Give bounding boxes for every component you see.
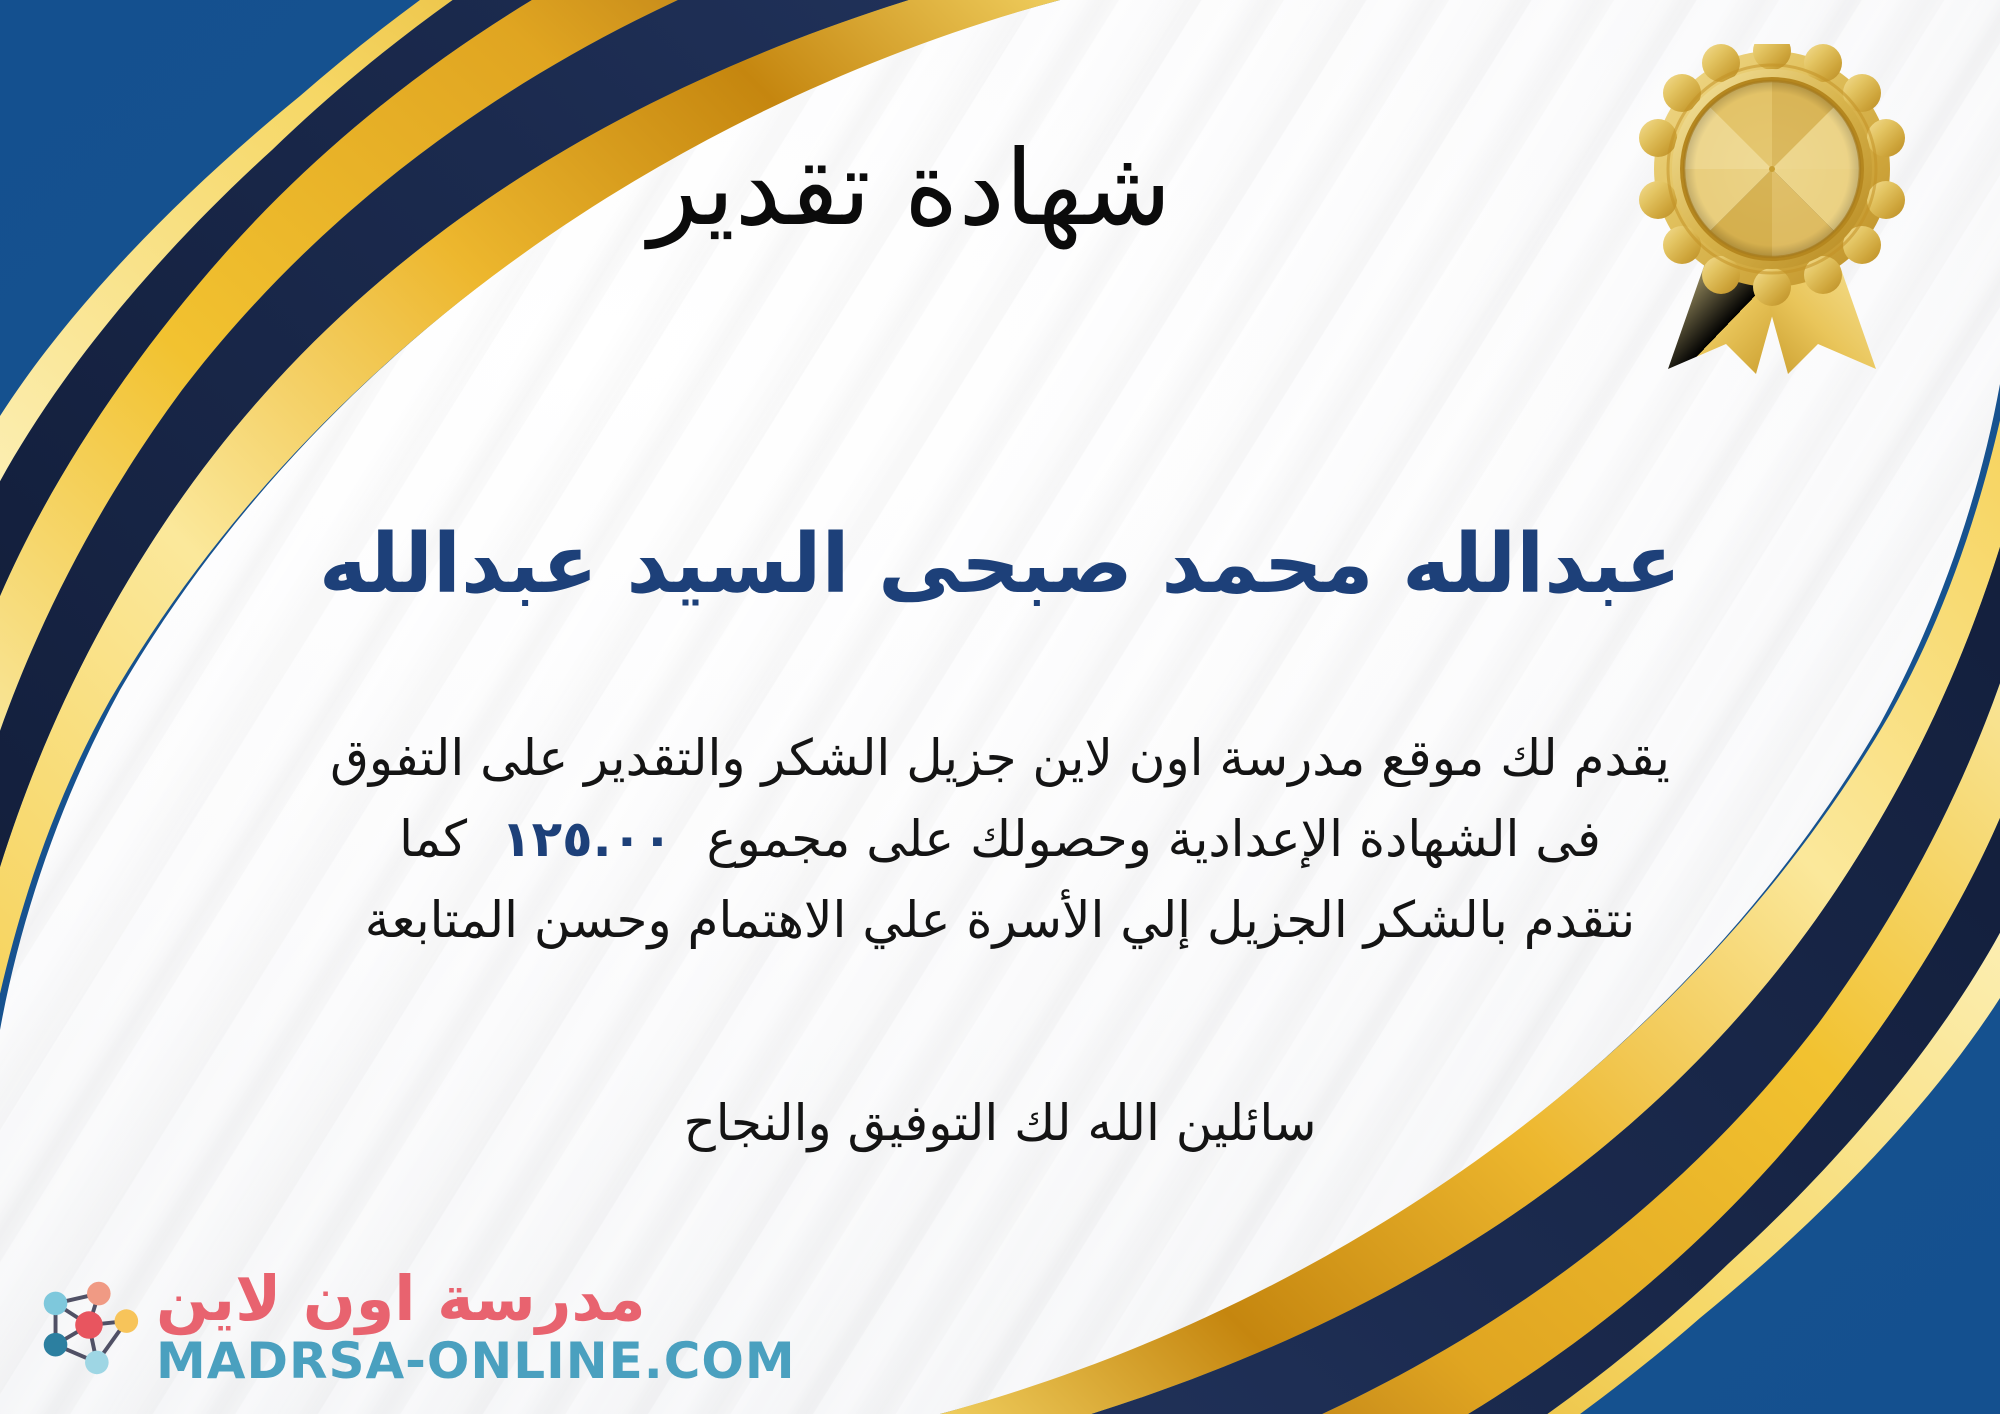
brand-wordmark: مدرسة اون لاين MADRSA-ONLINE.COM — [156, 1268, 796, 1386]
certificate-title: شهادة تقدير — [0, 132, 2000, 244]
total-score-value: ١٢٥.٠٠ — [467, 810, 707, 868]
body-line-2: فى الشهادة الإعدادية وحصولك على مجموع١٢٥… — [60, 799, 1940, 880]
brand-logo[interactable]: مدرسة اون لاين MADRSA-ONLINE.COM — [28, 1268, 796, 1386]
body-line-3: نتقدم بالشكر الجزيل إلي الأسرة علي الاهت… — [60, 880, 1940, 961]
brand-website[interactable]: MADRSA-ONLINE.COM — [156, 1336, 796, 1386]
recipient-name: عبدالله محمد صبحى السيد عبدالله — [0, 520, 2000, 610]
closing-wishes: سائلين الله لك التوفيق والنجاح — [0, 1094, 2000, 1152]
body-line-2-prefix: فى الشهادة الإعدادية وحصولك على مجموع — [707, 810, 1601, 868]
network-nodes-icon — [28, 1268, 146, 1386]
certificate-canvas: شهادة تقدير عبدالله محمد صبحى السيد عبدا… — [0, 0, 2000, 1414]
certificate-body: يقدم لك موقع مدرسة اون لاين جزيل الشكر و… — [60, 718, 1940, 961]
certificate-content: شهادة تقدير عبدالله محمد صبحى السيد عبدا… — [0, 0, 2000, 1414]
body-line-1: يقدم لك موقع مدرسة اون لاين جزيل الشكر و… — [60, 718, 1940, 799]
brand-arabic-name: مدرسة اون لاين — [156, 1268, 646, 1330]
body-line-2-suffix: كما — [399, 810, 467, 868]
